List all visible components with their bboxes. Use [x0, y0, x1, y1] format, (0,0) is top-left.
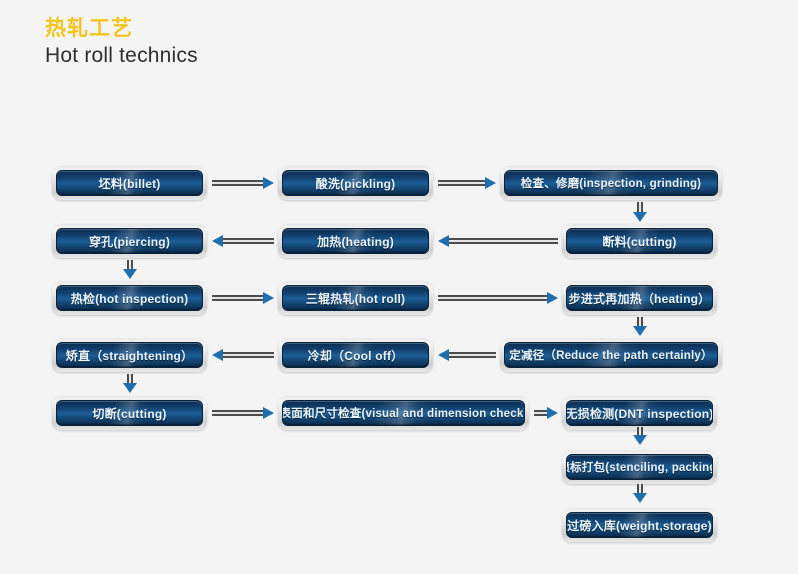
- flow-arrow-n16-to-n17: [633, 484, 647, 503]
- flow-node-body: 切断(cutting): [56, 400, 203, 426]
- arrow-head-icon: [547, 407, 558, 419]
- flow-node-body: 冷却（Cool off）: [282, 342, 429, 368]
- flow-node-label: 三辊热轧(hot roll): [306, 290, 405, 307]
- flow-node-body: 表面和尺寸检查(visual and dimension check): [282, 400, 525, 426]
- arrow-shaft: [448, 352, 496, 358]
- flow-arrow-n12-to-n11: [438, 349, 496, 361]
- flow-node-body: 三辊热轧(hot roll): [282, 285, 429, 311]
- arrow-head-icon: [633, 326, 647, 336]
- flow-arrow-n2-to-n3: [438, 177, 496, 189]
- flow-node-label: 酸洗(pickling): [316, 175, 396, 192]
- arrow-head-icon: [123, 269, 137, 279]
- arrow-head-icon: [263, 292, 274, 304]
- arrow-head-icon: [547, 292, 558, 304]
- flow-node-n16[interactable]: 喷标打包(stenciling, packing): [562, 450, 717, 484]
- flow-node-n14[interactable]: 表面和尺寸检查(visual and dimension check): [278, 396, 529, 430]
- flow-node-body: 定减径（Reduce the path certainly）: [504, 342, 718, 368]
- arrow-head-icon: [438, 235, 449, 247]
- arrow-shaft: [448, 238, 558, 244]
- arrow-shaft: [222, 352, 274, 358]
- arrow-head-icon: [263, 177, 274, 189]
- flow-node-body: 加热(heating): [282, 228, 429, 254]
- flow-arrow-n6-to-n5: [438, 235, 558, 247]
- flow-node-body: 过磅入库(weight,storage): [566, 512, 713, 538]
- flow-node-n5[interactable]: 加热(heating): [278, 224, 433, 258]
- flow-node-label: 加热(heating): [317, 233, 394, 250]
- flow-node-label: 坯料(billet): [99, 175, 161, 192]
- flow-arrow-n13-to-n14: [212, 407, 274, 419]
- flow-arrow-n15-to-n16: [633, 427, 647, 445]
- flow-node-label: 定减径（Reduce the path certainly）: [509, 347, 712, 363]
- arrow-shaft: [438, 295, 548, 301]
- flow-arrow-n9-to-n12: [633, 317, 647, 336]
- arrow-shaft: [438, 180, 486, 186]
- arrow-shaft: [534, 410, 548, 416]
- arrow-shaft: [212, 295, 264, 301]
- flow-arrow-n1-to-n2: [212, 177, 274, 189]
- flow-node-label: 冷却（Cool off）: [308, 347, 404, 364]
- arrow-head-icon: [633, 212, 647, 222]
- arrow-head-icon: [263, 407, 274, 419]
- flow-node-label: 断料(cutting): [602, 233, 676, 250]
- flow-node-n15[interactable]: 无损检测(DNT inspection): [562, 396, 717, 430]
- flow-node-n4[interactable]: 穿孔(piercing): [52, 224, 207, 258]
- flow-arrow-n5-to-n4: [212, 235, 274, 247]
- flow-node-n11[interactable]: 冷却（Cool off）: [278, 338, 433, 372]
- flow-node-n13[interactable]: 切断(cutting): [52, 396, 207, 430]
- flow-node-body: 检查、修磨(inspection, grinding): [504, 170, 718, 196]
- flow-node-body: 无损检测(DNT inspection): [566, 400, 713, 426]
- flow-arrow-n10-to-n13: [123, 374, 137, 393]
- flow-arrow-n11-to-n10: [212, 349, 274, 361]
- flow-node-body: 矫直（straightening）: [56, 342, 203, 368]
- flow-node-label: 穿孔(piercing): [89, 233, 170, 250]
- flow-arrow-n3-to-n6: [633, 202, 647, 222]
- flow-node-n12[interactable]: 定减径（Reduce the path certainly）: [500, 338, 722, 372]
- flow-node-body: 断料(cutting): [566, 228, 713, 254]
- flow-node-label: 切断(cutting): [92, 405, 166, 422]
- arrow-head-icon: [633, 435, 647, 445]
- flow-node-body: 热检(hot inspection): [56, 285, 203, 311]
- flow-node-body: 坯料(billet): [56, 170, 203, 196]
- arrow-head-icon: [123, 383, 137, 393]
- flow-node-n3[interactable]: 检查、修磨(inspection, grinding): [500, 166, 722, 200]
- flow-node-body: 酸洗(pickling): [282, 170, 429, 196]
- flowchart-canvas: 坯料(billet)酸洗(pickling)检查、修磨(inspection, …: [0, 0, 798, 574]
- flow-arrow-n14-to-n15: [534, 407, 558, 419]
- arrow-head-icon: [633, 493, 647, 503]
- flow-node-label: 矫直（straightening）: [66, 347, 193, 364]
- flow-node-n1[interactable]: 坯料(billet): [52, 166, 207, 200]
- flow-node-body: 步进式再加热（heating）: [566, 285, 713, 311]
- flow-node-label: 热检(hot inspection): [71, 290, 189, 307]
- arrow-head-icon: [212, 235, 223, 247]
- flow-node-n8[interactable]: 三辊热轧(hot roll): [278, 281, 433, 315]
- flow-node-n9[interactable]: 步进式再加热（heating）: [562, 281, 717, 315]
- arrow-head-icon: [438, 349, 449, 361]
- flow-node-n7[interactable]: 热检(hot inspection): [52, 281, 207, 315]
- flow-node-label: 无损检测(DNT inspection): [566, 405, 713, 422]
- flow-node-body: 喷标打包(stenciling, packing): [566, 454, 713, 480]
- arrow-shaft: [222, 238, 274, 244]
- arrow-shaft: [212, 410, 264, 416]
- flow-node-n17[interactable]: 过磅入库(weight,storage): [562, 508, 717, 542]
- flow-arrow-n8-to-n9: [438, 292, 558, 304]
- flow-node-n6[interactable]: 断料(cutting): [562, 224, 717, 258]
- arrow-head-icon: [485, 177, 496, 189]
- arrow-head-icon: [212, 349, 223, 361]
- flow-node-label: 表面和尺寸检查(visual and dimension check): [282, 405, 525, 421]
- flow-node-label: 过磅入库(weight,storage): [567, 517, 712, 534]
- flow-node-label: 步进式再加热（heating）: [569, 290, 711, 307]
- flow-node-n10[interactable]: 矫直（straightening）: [52, 338, 207, 372]
- flow-node-n2[interactable]: 酸洗(pickling): [278, 166, 433, 200]
- flow-arrow-n7-to-n8: [212, 292, 274, 304]
- flow-node-label: 喷标打包(stenciling, packing): [566, 459, 713, 475]
- flow-arrow-n4-to-n7: [123, 260, 137, 279]
- flow-node-label: 检查、修磨(inspection, grinding): [521, 175, 701, 191]
- flow-node-body: 穿孔(piercing): [56, 228, 203, 254]
- arrow-shaft: [212, 180, 264, 186]
